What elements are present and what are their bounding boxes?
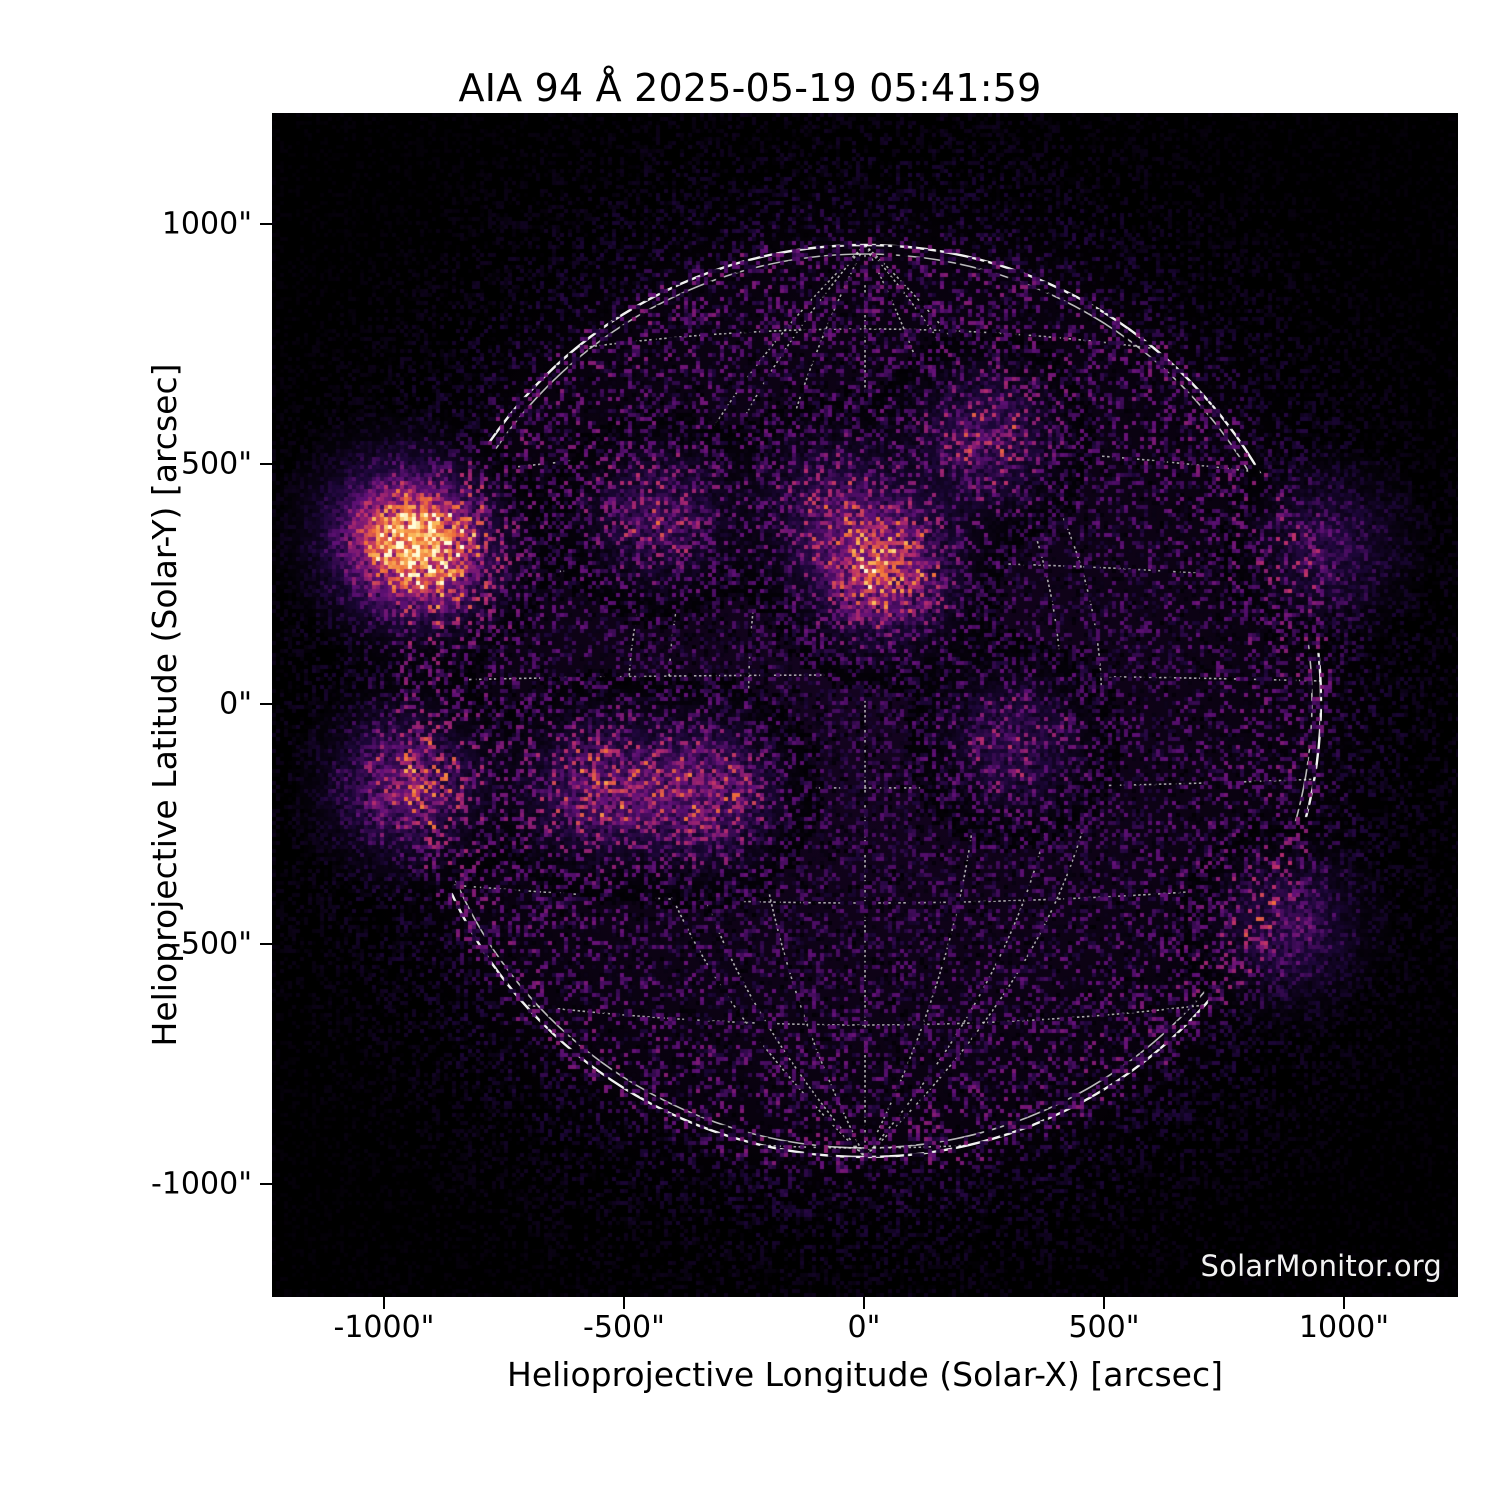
ytick-label-500: 500" bbox=[181, 447, 252, 482]
ytick-mark bbox=[260, 703, 272, 705]
watermark-label: SolarMonitor.org bbox=[1201, 1249, 1442, 1283]
solar-image-figure: AIA 94 Å 2025-05-19 05:41:59 bbox=[0, 0, 1500, 1500]
ytick-mark bbox=[260, 943, 272, 945]
ytick-mark bbox=[260, 223, 272, 225]
xtick-mark bbox=[1103, 1297, 1105, 1309]
xtick-mark bbox=[863, 1297, 865, 1309]
xtick-label-0: 0" bbox=[848, 1310, 881, 1345]
xtick-label-1000: 1000" bbox=[1299, 1310, 1389, 1345]
xtick-mark bbox=[383, 1297, 385, 1309]
solar-disk-graphic bbox=[272, 113, 1458, 1297]
xtick-label-m500: -500" bbox=[583, 1310, 665, 1345]
ytick-mark bbox=[260, 463, 272, 465]
xtick-mark bbox=[623, 1297, 625, 1309]
ytick-mark bbox=[260, 1183, 272, 1185]
ytick-label-0: 0" bbox=[219, 687, 252, 722]
page-title: AIA 94 Å 2025-05-19 05:41:59 bbox=[0, 66, 1500, 110]
xtick-label-500: 500" bbox=[1068, 1310, 1139, 1345]
x-axis-title: Helioprojective Longitude (Solar-X) [arc… bbox=[272, 1355, 1458, 1394]
image-plot-area[interactable]: SolarMonitor.org bbox=[272, 113, 1458, 1297]
xtick-mark bbox=[1343, 1297, 1345, 1309]
y-axis-title: Helioprojective Latitude (Solar-Y) [arcs… bbox=[143, 113, 187, 1297]
xtick-label-m1000: -1000" bbox=[334, 1310, 435, 1345]
